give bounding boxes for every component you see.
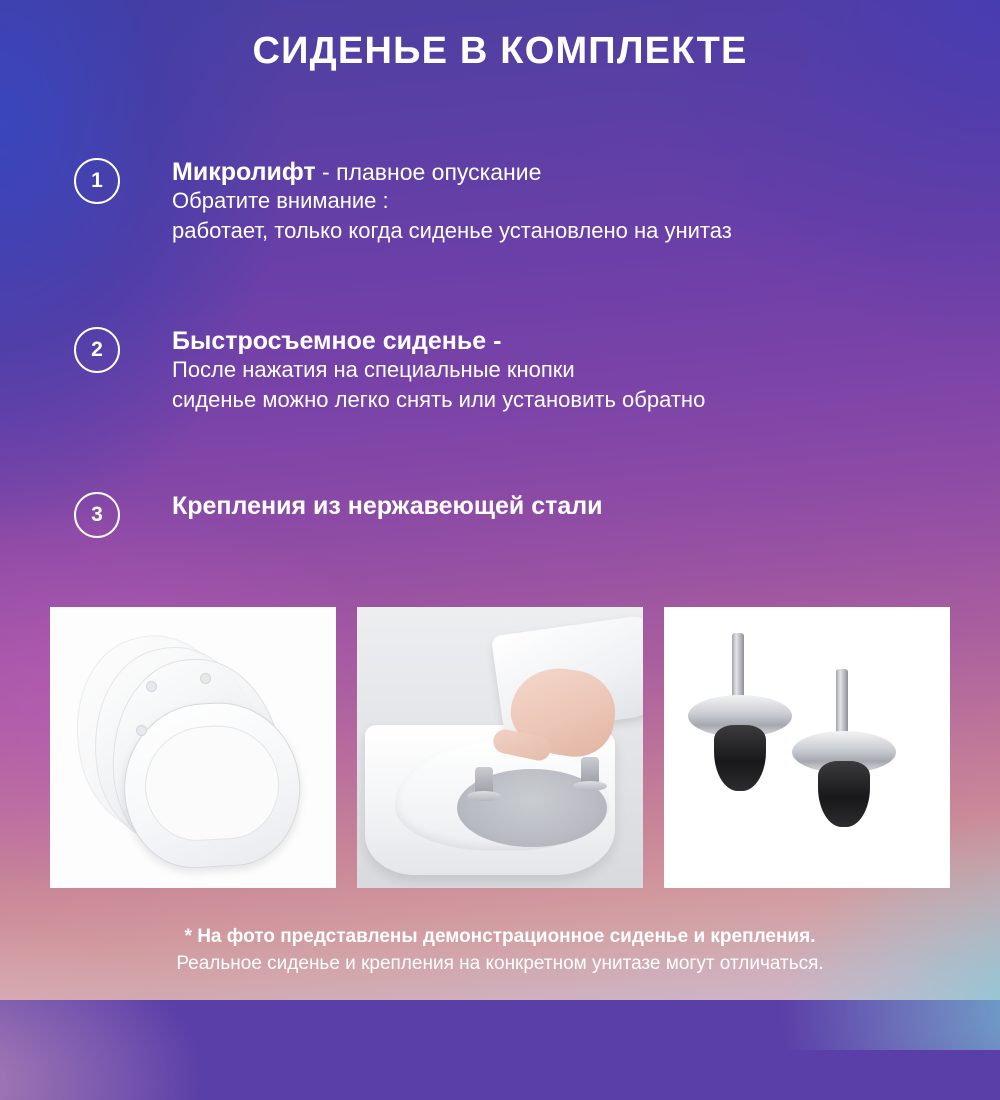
feature-body-1: Микролифт - плавное опускание Обратите в… — [172, 158, 964, 247]
feature-heading-2: Быстросъемное сиденье - — [172, 327, 964, 355]
seat-bumper-1 — [146, 681, 157, 692]
feature-item-3: 3 Крепления из нержавеющей стали — [74, 492, 964, 520]
photo-row — [50, 607, 950, 888]
footer-note-line-1: * На фото представлены демонстрационное … — [0, 923, 1000, 951]
footer-note: * На фото представлены демонстрационное … — [0, 923, 1000, 978]
feature-line-1-2: работает, только когда сиденье установле… — [172, 216, 964, 246]
feature-line-1-1: Обратите внимание : — [172, 186, 964, 216]
feature-body-2: Быстросъемное сиденье - После нажатия на… — [172, 327, 964, 416]
feature-body-3: Крепления из нержавеющей стали — [172, 492, 964, 520]
feature-heading-thin-1: - плавное опускание — [316, 159, 542, 185]
feature-item-2: 2 Быстросъемное сиденье - После нажатия … — [74, 327, 964, 416]
feature-number-badge-2: 2 — [74, 327, 120, 373]
feature-line-2-2: сиденье можно легко снять или установить… — [172, 385, 964, 415]
feature-number-badge-3: 3 — [74, 492, 120, 538]
footer-note-line-2: Реальное сиденье и крепления на конкретн… — [0, 950, 1000, 978]
photo-toilet-seat — [50, 607, 336, 888]
seat-bumper-2 — [200, 673, 211, 684]
page-title: СИДЕНЬЕ В КОМПЛЕКТЕ — [0, 30, 1000, 73]
photo-chrome-fixings — [664, 607, 950, 888]
feature-line-2-1: После нажатия на специальные кнопки — [172, 355, 964, 385]
fixing-bolt-left — [475, 767, 493, 793]
feature-heading-bold-2: Быстросъемное сиденье - — [172, 327, 501, 355]
fixing-bolt-cap-left — [467, 791, 501, 801]
feature-item-1: 1 Микролифт - плавное опускание Обратите… — [74, 158, 964, 247]
feature-number-badge-1: 1 — [74, 158, 120, 204]
fixing-right-rod — [836, 669, 848, 739]
seat-bumper-3 — [136, 725, 147, 736]
feature-heading-1: Микролифт - плавное опускание — [172, 158, 964, 186]
seat-ring-inner — [142, 723, 282, 844]
fixing-left-rod — [732, 633, 744, 703]
feature-heading-bold-1: Микролифт — [172, 158, 316, 186]
feature-heading-3: Крепления из нержавеющей стали — [172, 492, 964, 520]
infographic-content: СИДЕНЬЕ В КОМПЛЕКТЕ 1 Микролифт - плавно… — [0, 0, 1000, 1000]
photo-hand-installing-seat — [357, 607, 643, 888]
feature-heading-bold-3: Крепления из нержавеющей стали — [172, 492, 603, 520]
fixing-bolt-right — [581, 757, 599, 783]
fixing-bolt-cap-right — [573, 781, 607, 791]
